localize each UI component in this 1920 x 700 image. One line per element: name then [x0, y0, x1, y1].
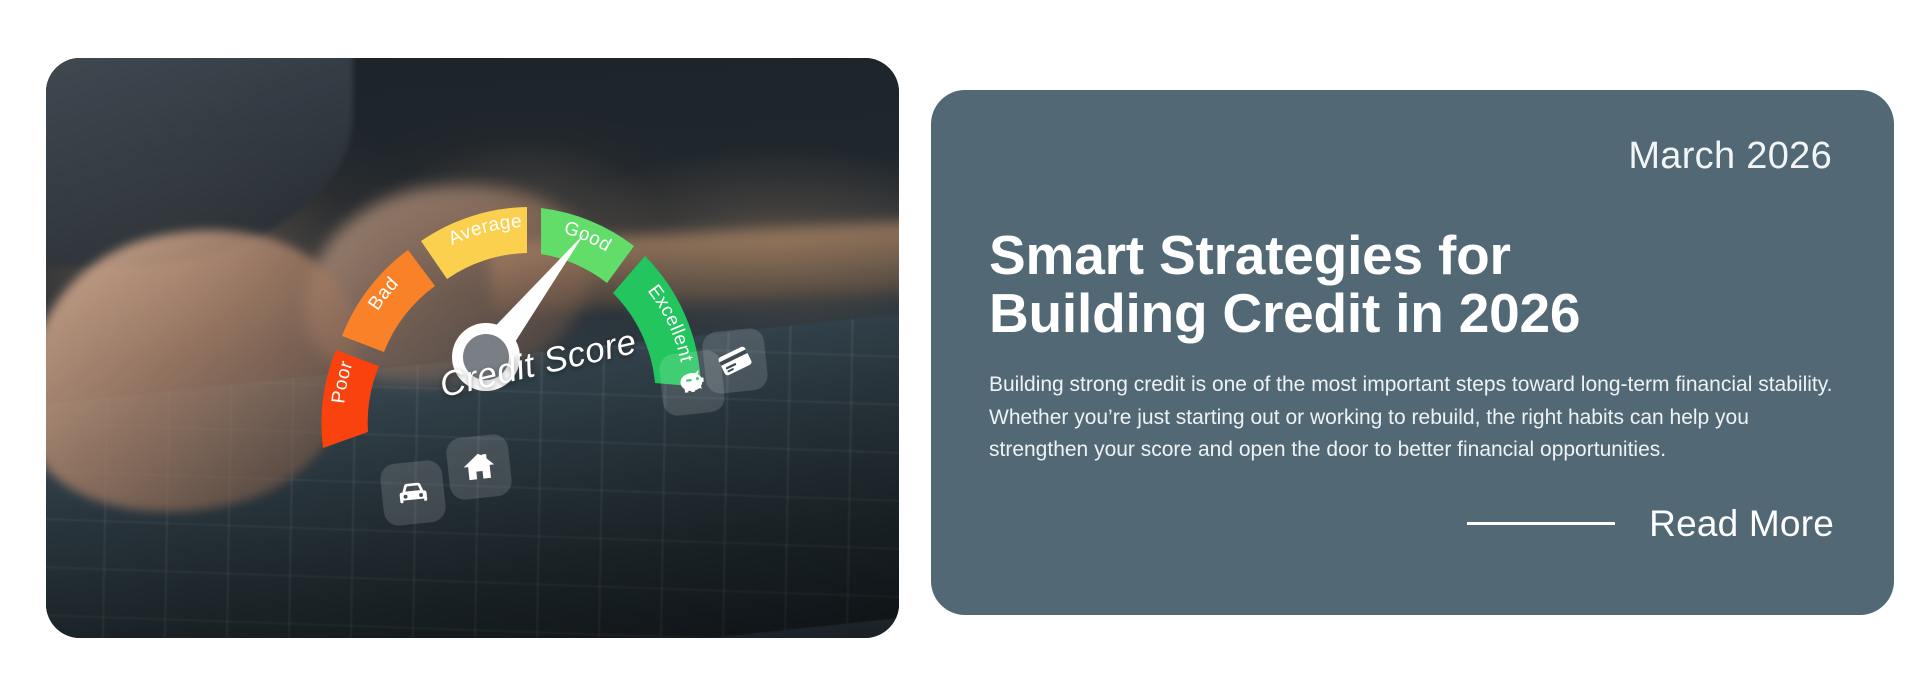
page-title-line-2: Building Credit in 2026 — [989, 284, 1838, 343]
article-content-card: March 2026 Smart Strategies for Building… — [931, 90, 1894, 615]
credit-score-gauge: Poor Bad Average Good Excellent — [301, 104, 731, 484]
car-icon — [393, 473, 433, 513]
article-summary: Building strong credit is one of the mos… — [989, 369, 1838, 467]
read-more-link[interactable]: Read More — [987, 503, 1838, 545]
credit-card-icon-badge[interactable] — [701, 327, 769, 395]
page-title-line-1: Smart Strategies for — [989, 226, 1838, 285]
article-image-panel[interactable]: Poor Bad Average Good Excellent — [46, 58, 899, 638]
read-more-label[interactable]: Read More — [1649, 503, 1834, 545]
publish-date: March 2026 — [987, 134, 1832, 180]
home-icon-badge[interactable] — [445, 433, 513, 501]
home-icon — [459, 447, 499, 487]
cta-divider-rule — [1467, 522, 1615, 525]
car-icon-badge[interactable] — [379, 459, 447, 527]
article-banner: Poor Bad Average Good Excellent — [0, 0, 1920, 700]
page-title: Smart Strategies for Building Credit in … — [989, 226, 1838, 344]
credit-card-icon — [715, 341, 755, 381]
